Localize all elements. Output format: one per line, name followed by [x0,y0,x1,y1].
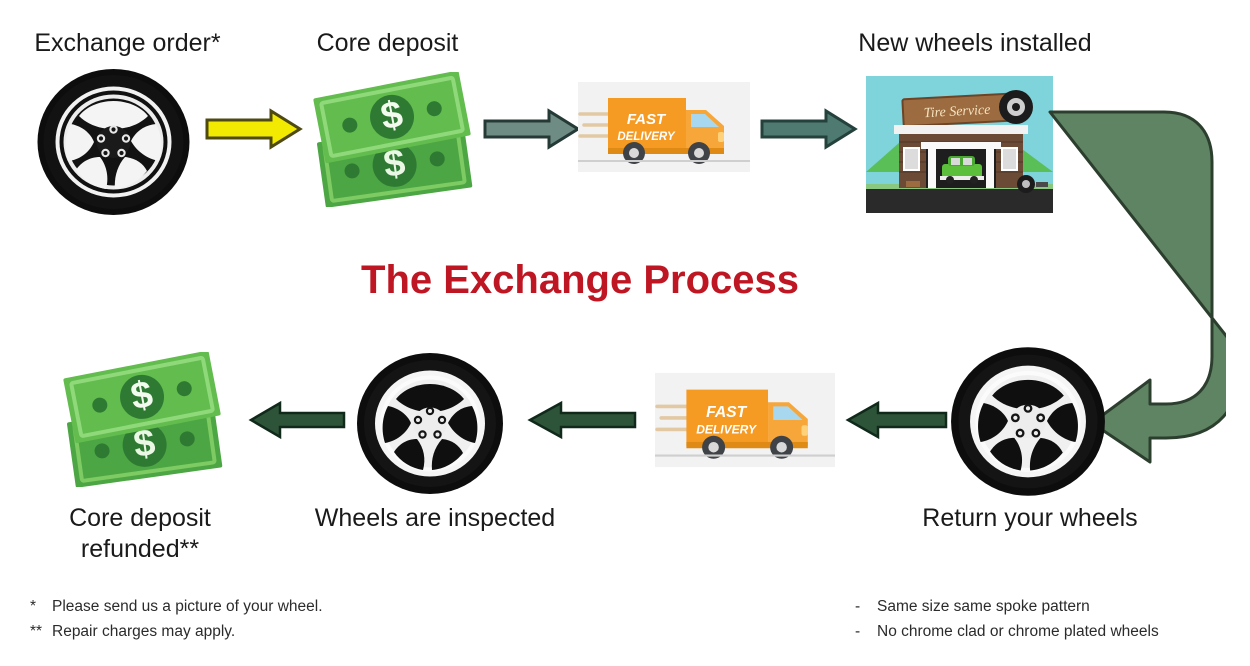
footnote-left-2-mark: ** [30,619,52,644]
delivery-truck-icon-top: FAST DELIVERY [578,82,750,172]
footnotes-left: * Please send us a picture of your wheel… [30,594,450,644]
label-refund-line2: refunded** [81,535,199,563]
footnote-left-2: ** Repair charges may apply. [30,619,450,644]
footnote-right-2: - No chrome clad or chrome plated wheels [855,619,1245,644]
label-new-wheels-installed: New wheels installed [795,28,1155,59]
wheel-light-icon-inspected [356,352,504,495]
label-return-your-wheels: Return your wheels [890,503,1170,534]
money-icon-top: $ $ [305,72,480,207]
money-icon-bottom: $ $ [55,352,230,487]
label-core-deposit-refunded: Core deposit refunded** [20,503,260,566]
delivery-truck-icon-bottom: FAST DELIVERY [655,372,835,468]
footnote-left-1: * Please send us a picture of your wheel… [30,594,450,619]
footnotes-right: - Same size same spoke pattern - No chro… [855,594,1245,644]
footnote-left-1-mark: * [30,594,52,619]
label-wheels-inspected: Wheels are inspected [290,503,580,534]
exchange-process-diagram: Exchange order* Core deposit New wheels … [0,0,1250,666]
footnote-right-2-text: No chrome clad or chrome plated wheels [877,619,1159,644]
svg-text:FAST: FAST [706,404,748,421]
label-exchange-order: Exchange order* [0,28,255,59]
arrow-deposit-to-shipping [483,108,581,150]
footnote-right-1-text: Same size same spoke pattern [877,594,1090,619]
label-core-deposit: Core deposit [280,28,495,59]
arrow-shipping-to-shop [760,108,858,150]
arrow-inspect-to-refund [246,400,346,440]
wheel-light-icon-return [950,346,1106,497]
svg-text:DELIVERY: DELIVERY [696,423,757,437]
tire-service-shop-icon: Tire Service [866,76,1053,213]
svg-text:FAST: FAST [627,111,667,128]
wheel-dark-icon [36,68,191,216]
footnote-right-2-mark: - [855,619,877,644]
footnote-right-1-mark: - [855,594,877,619]
label-refund-line1: Core deposit [69,504,211,532]
svg-text:DELIVERY: DELIVERY [617,131,676,143]
arrow-order-to-deposit [205,108,303,150]
footnote-left-2-text: Repair charges may apply. [52,619,235,644]
arrow-truck-to-inspect [525,400,637,440]
footnote-left-1-text: Please send us a picture of your wheel. [52,594,323,619]
page-title: The Exchange Process [0,258,1160,303]
arrow-return-to-truck [843,400,948,440]
footnote-right-1: - Same size same spoke pattern [855,594,1245,619]
